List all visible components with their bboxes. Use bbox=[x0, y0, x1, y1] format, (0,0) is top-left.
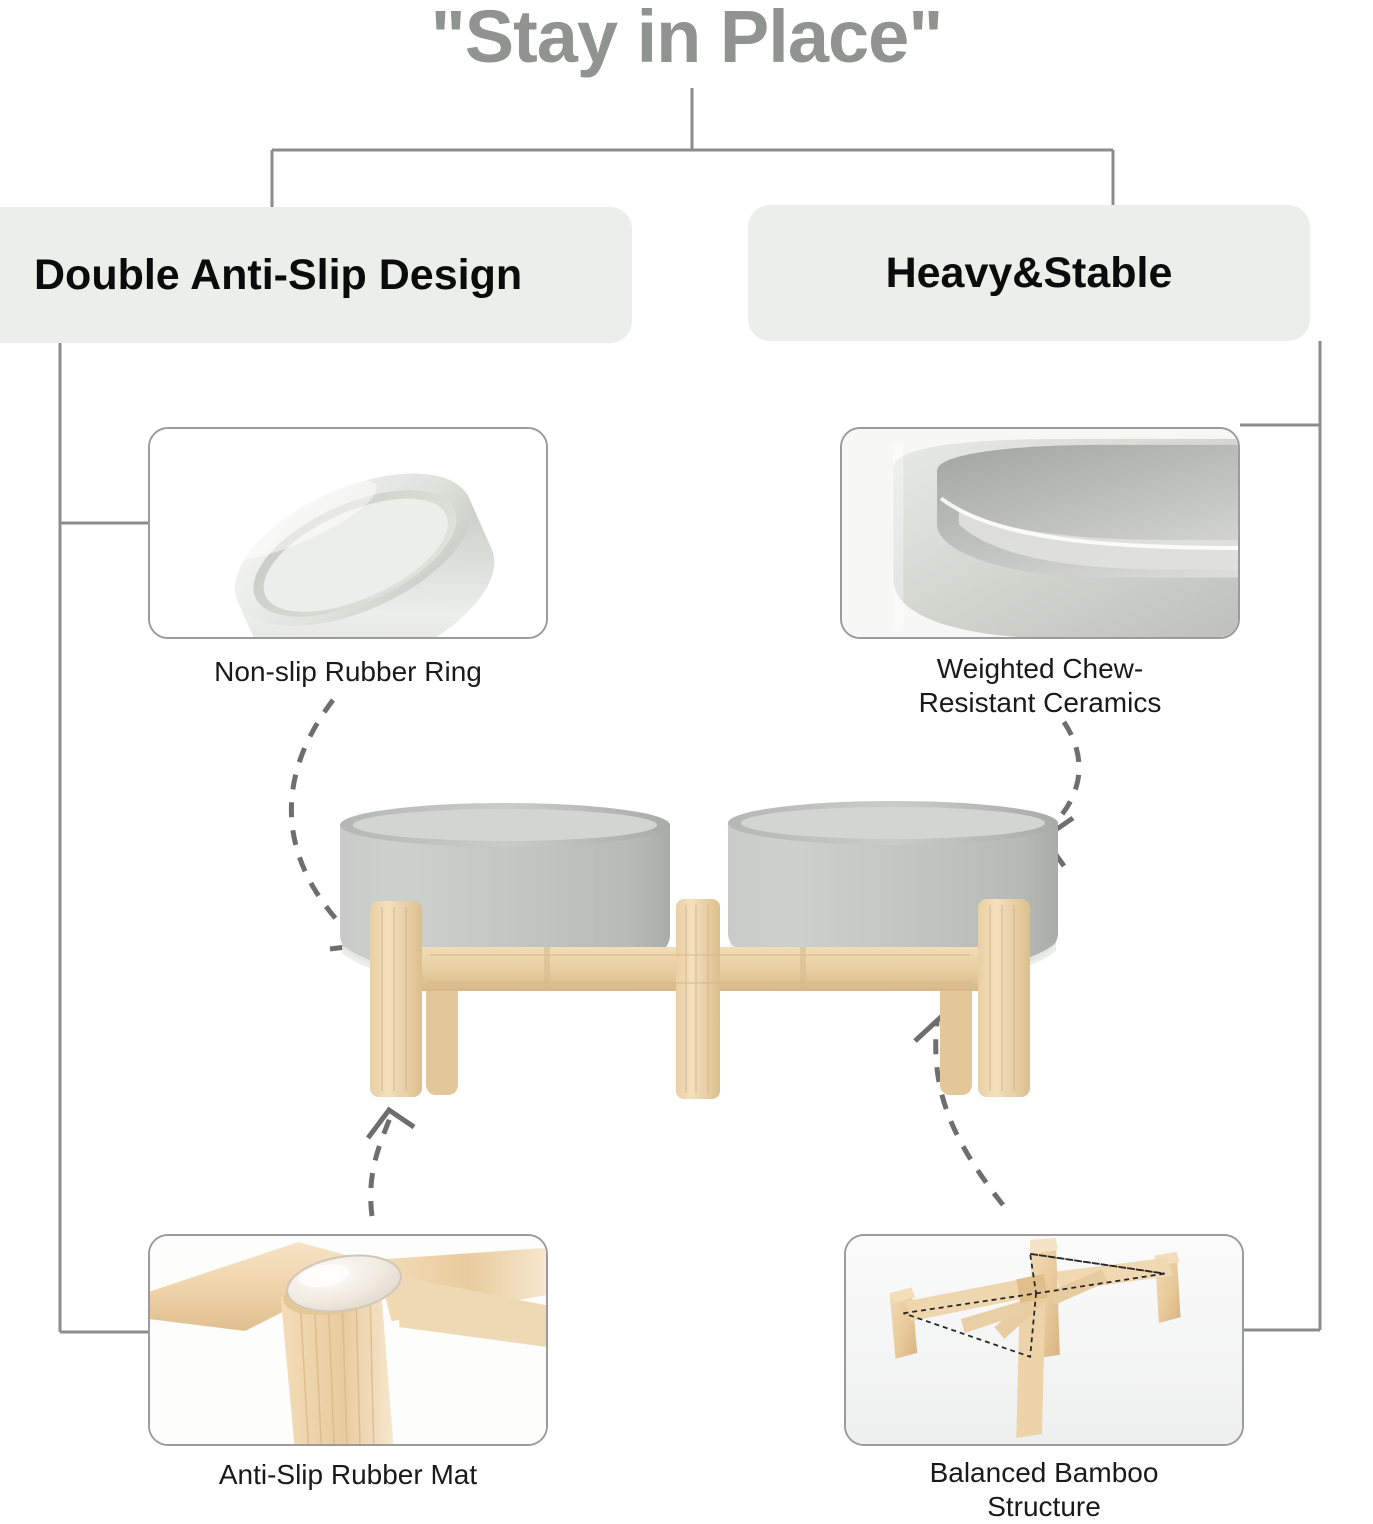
feature-thumbnail-non-slip-rubber-ring[interactable] bbox=[148, 427, 548, 639]
feature-thumbnail-weighted-chew-resistant-ceramics[interactable] bbox=[840, 427, 1240, 639]
branch-label-text: Double Anti-Slip Design bbox=[34, 251, 522, 300]
branch-label-heavy-and-stable[interactable]: Heavy&Stable bbox=[748, 205, 1310, 341]
bamboo-leg-rubber-pad-image bbox=[150, 1236, 546, 1446]
callout-arrow-path-bottom-left bbox=[371, 1115, 391, 1216]
infographic-canvas: "Stay in Place" bbox=[0, 0, 1373, 1500]
feature-caption-balanced-bamboo-structure: Balanced Bamboo Structure bbox=[844, 1456, 1244, 1524]
branch-label-text: Heavy&Stable bbox=[886, 249, 1173, 298]
bamboo-frame-balance-diagram-image bbox=[846, 1236, 1242, 1446]
feature-caption-non-slip-rubber-ring: Non-slip Rubber Ring bbox=[148, 655, 548, 689]
branch-label-double-anti-slip-design[interactable]: Double Anti-Slip Design bbox=[0, 207, 632, 343]
feature-thumbnail-balanced-bamboo-structure[interactable] bbox=[844, 1234, 1244, 1446]
ceramic-bowl-underside-image bbox=[150, 429, 546, 639]
hero-product-image bbox=[330, 795, 1070, 1115]
feature-thumbnail-anti-slip-rubber-mat[interactable] bbox=[148, 1234, 548, 1446]
ceramic-bowl-interior-image bbox=[842, 429, 1238, 639]
feature-caption-anti-slip-rubber-mat: Anti-Slip Rubber Mat bbox=[148, 1458, 548, 1492]
feature-caption-weighted-chew-resistant-ceramics: Weighted Chew- Resistant Ceramics bbox=[840, 652, 1240, 720]
page-title: "Stay in Place" bbox=[0, 0, 1373, 79]
double-bowl-bamboo-stand-illustration bbox=[330, 795, 1070, 1115]
